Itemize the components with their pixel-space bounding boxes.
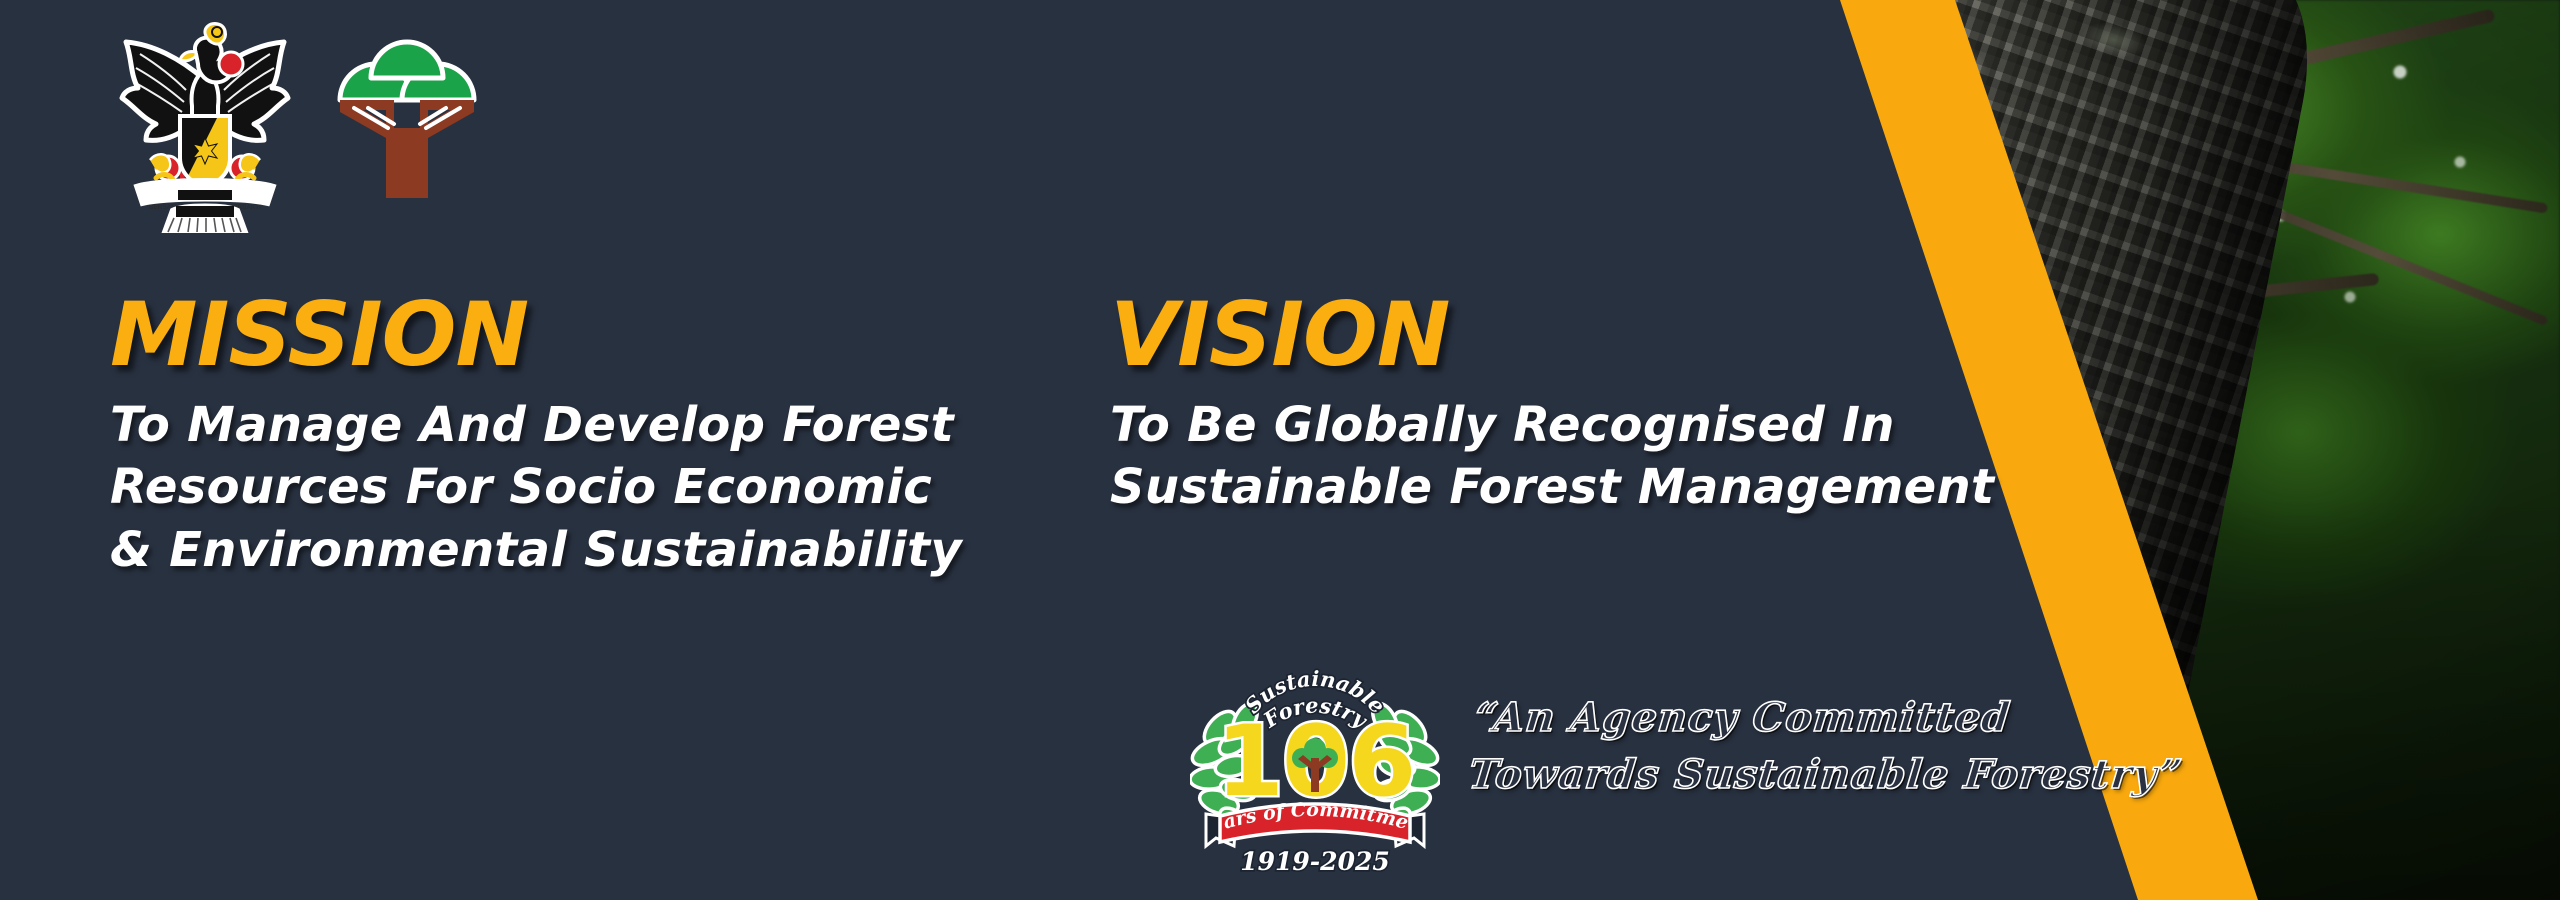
anniversary-emblem-icon: Sustainable Forestry 106 Years — [1190, 632, 1440, 882]
mission-line-3: & Environmental Sustainability — [110, 519, 1010, 581]
tagline-line-2: Towards Sustainable Forestry” — [1466, 747, 2092, 804]
mission-line-1: To Manage And Develop Forest — [110, 394, 1010, 456]
vision-line-1: To Be Globally Recognised In — [1110, 394, 2060, 456]
mission-vision-banner: BERSATU TO BERUSAHA BERBAKTI — [0, 0, 2560, 900]
anniversary-106-logo: Sustainable Forestry 106 Years — [1190, 632, 1440, 882]
mission-heading: MISSION — [110, 290, 1010, 380]
sarawak-coat-of-arms-icon: BERSATU TO BERUSAHA BERBAKTI — [100, 18, 310, 233]
vision-block: VISION To Be Globally Recognised In Sust… — [1110, 290, 2060, 519]
mission-line-2: Resources For Socio Economic — [110, 456, 1010, 518]
tagline-line-1: “An Agency Committed — [1472, 690, 2098, 747]
vision-heading: VISION — [1110, 290, 2060, 380]
mission-body: To Manage And Develop Forest Resources F… — [110, 394, 1010, 581]
tagline: “An Agency Committed Towards Sustainable… — [1466, 690, 2098, 804]
mission-block: MISSION To Manage And Develop Forest Res… — [110, 290, 1010, 581]
logo-row: BERSATU TO BERUSAHA BERBAKTI — [100, 18, 482, 233]
vision-body: To Be Globally Recognised In Sustainable… — [1110, 394, 2060, 519]
forest-department-tree-logo-icon — [332, 18, 482, 198]
anniversary-years: 1919-2025 — [1240, 847, 1390, 876]
vision-line-2: Sustainable Forest Management — [1110, 456, 2060, 518]
